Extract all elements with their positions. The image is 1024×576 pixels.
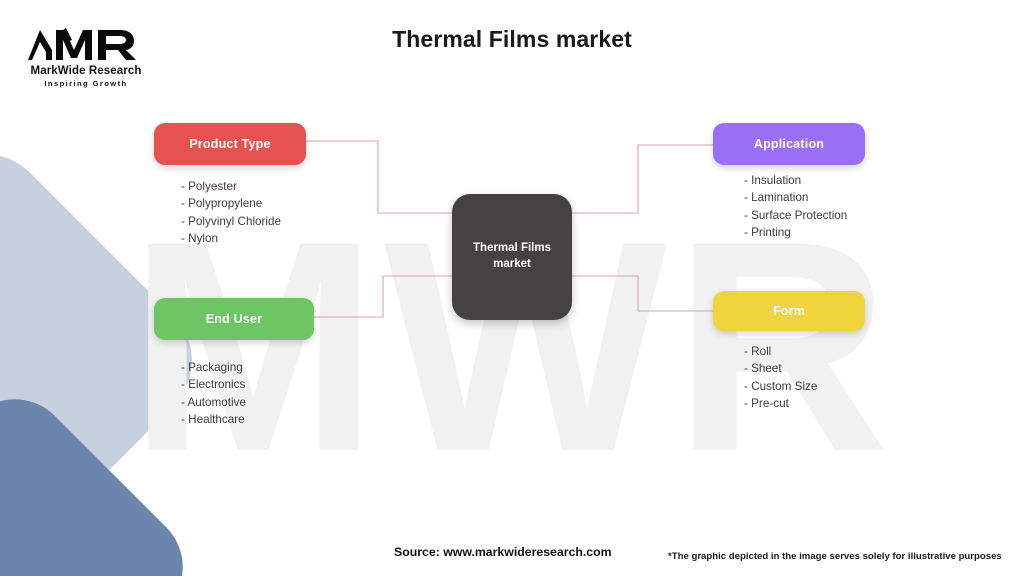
list-item: - Insulation <box>744 172 847 189</box>
list-item: - Sheet <box>744 360 817 377</box>
node-application[interactable]: Application <box>713 123 865 165</box>
list-item: - Healthcare <box>181 411 246 428</box>
node-form[interactable]: Form <box>713 291 865 331</box>
list-item: - Printing <box>744 224 847 241</box>
connector-product-type <box>306 141 452 213</box>
list-item: - Electronics <box>181 376 246 393</box>
node-end-user-label: End User <box>206 312 262 326</box>
node-product-type-label: Product Type <box>189 137 270 151</box>
list-item: - Automotive <box>181 394 246 411</box>
node-product-type[interactable]: Product Type <box>154 123 306 165</box>
list-product-type: - Polyester- Polypropylene- Polyvinyl Ch… <box>181 178 281 248</box>
list-form: - Roll- Sheet- Custom Size- Pre-cut <box>744 343 817 413</box>
node-center-label: Thermal Filmsmarket <box>473 241 551 272</box>
connector-application <box>572 145 713 213</box>
infographic-canvas: MWR MarkWide Research Inspiring Growth T… <box>0 0 1024 576</box>
list-item: - Surface Protection <box>744 207 847 224</box>
disclaimer-text: *The graphic depicted in the image serve… <box>668 551 1002 562</box>
list-item: - Nylon <box>181 230 281 247</box>
node-form-label: Form <box>773 304 805 318</box>
list-item: - Lamination <box>744 189 847 206</box>
connector-end-user <box>314 276 452 317</box>
list-item: - Custom Size <box>744 378 817 395</box>
list-item: - Packaging <box>181 359 246 376</box>
list-application: - Insulation- Lamination- Surface Protec… <box>744 172 847 242</box>
node-application-label: Application <box>754 137 824 151</box>
list-item: - Polyvinyl Chloride <box>181 213 281 230</box>
connector-form <box>572 276 713 311</box>
list-item: - Pre-cut <box>744 395 817 412</box>
node-center-market[interactable]: Thermal Filmsmarket <box>452 194 572 320</box>
list-item: - Polypropylene <box>181 195 281 212</box>
source-text: Source: www.markwideresearch.com <box>394 545 612 559</box>
node-end-user[interactable]: End User <box>154 298 314 340</box>
list-item: - Polyester <box>181 178 281 195</box>
list-item: - Roll <box>744 343 817 360</box>
list-end-user: - Packaging- Electronics- Automotive- He… <box>181 359 246 429</box>
